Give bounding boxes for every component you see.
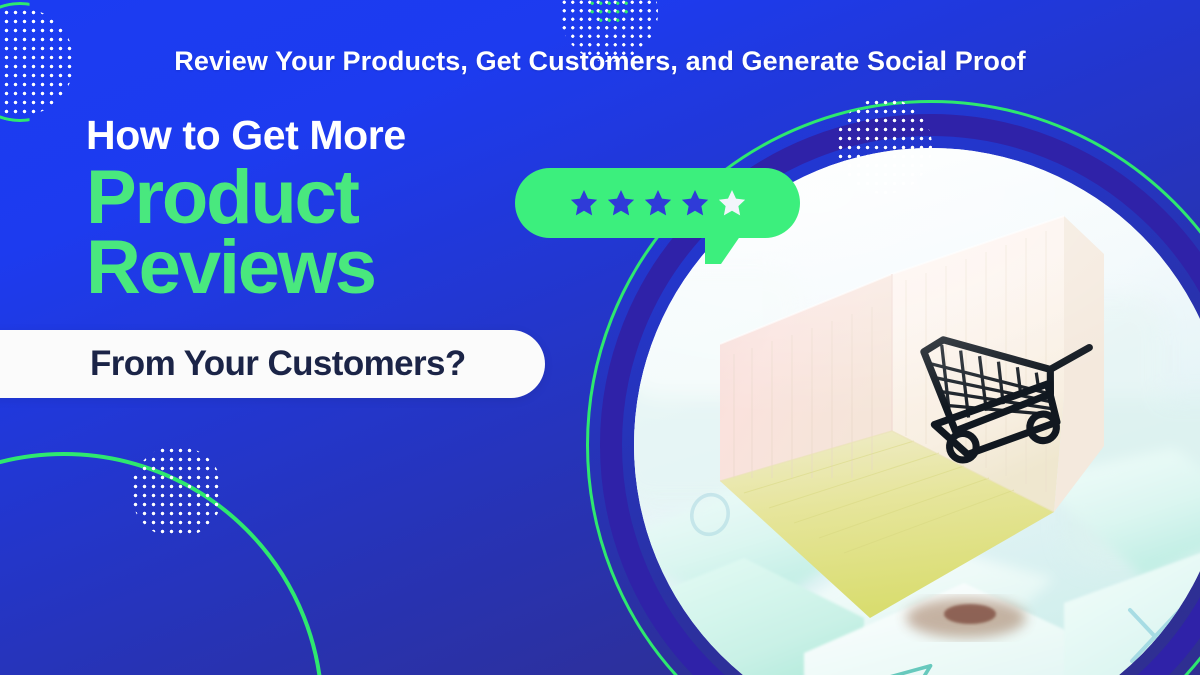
star-filled-icon: [606, 188, 636, 218]
dotted-circle-over-photo-icon: [836, 98, 932, 194]
banner-kicker: Review Your Products, Get Customers, and…: [0, 46, 1200, 77]
star-filled-icon: [643, 188, 673, 218]
subheadline-pill: From Your Customers?: [0, 330, 545, 398]
star-filled-icon: [680, 188, 710, 218]
dotted-circle-bottom-left-icon: [131, 446, 223, 538]
star-rating: [515, 168, 800, 238]
star-filled-icon: [569, 188, 599, 218]
headline-line-3: Reviews: [86, 233, 406, 303]
star-empty-icon: [717, 188, 747, 218]
headline-line-2: Product: [86, 163, 406, 233]
star-rating-bubble: [515, 168, 800, 238]
headline-line-1: How to Get More: [86, 114, 406, 157]
banner-headline: How to Get More Product Reviews: [86, 114, 406, 303]
subheadline-text: From Your Customers?: [90, 344, 466, 384]
promo-banner: Review Your Products, Get Customers, and…: [0, 0, 1200, 675]
